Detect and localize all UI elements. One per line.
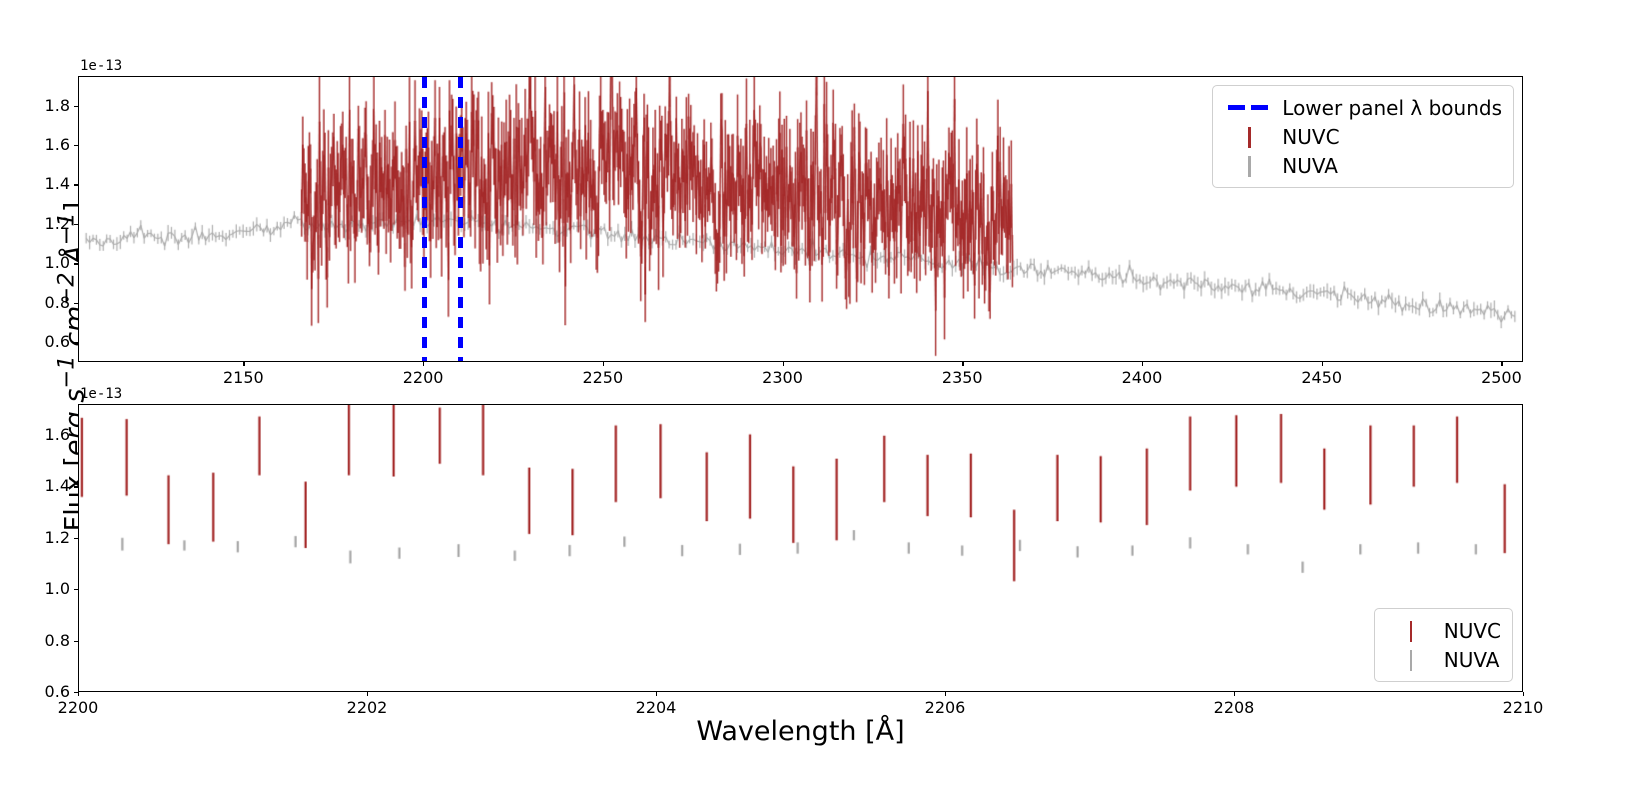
y-tick-mark <box>74 486 78 487</box>
x-tick-label: 2400 <box>1107 368 1177 387</box>
x-tick-mark <box>367 692 368 696</box>
top-panel-legend[interactable]: Lower panel λ bounds NUVC NUVA <box>1212 85 1514 188</box>
x-tick-label: 2350 <box>927 368 997 387</box>
x-tick-mark <box>962 362 963 366</box>
y-tick-mark <box>74 145 78 146</box>
y-tick-label: 1.4 <box>12 174 70 193</box>
y-tick-label: 0.8 <box>12 631 70 650</box>
legend-item-nuva-bottom[interactable]: NUVA <box>1384 645 1501 674</box>
y-tick-mark <box>74 641 78 642</box>
figure-canvas: Fig 2.7 Overlay of First and Second-orde… <box>0 0 1629 789</box>
x-tick-label: 2208 <box>1199 698 1269 717</box>
x-axis-label: Wavelength [Å] <box>78 716 1523 747</box>
y-tick-mark <box>74 106 78 107</box>
top-panel-axes: Lower panel λ bounds NUVC NUVA <box>78 76 1523 362</box>
bottom-panel-legend[interactable]: NUVC NUVA <box>1374 608 1513 682</box>
x-tick-label: 2300 <box>748 368 818 387</box>
vertical-bar-key-icon-nuvc-bottom <box>1384 620 1438 642</box>
y-tick-mark <box>74 538 78 539</box>
legend-label-nuva: NUVA <box>1282 154 1338 178</box>
legend-label-nuvc-bottom: NUVC <box>1444 619 1501 643</box>
x-tick-mark <box>1234 692 1235 696</box>
x-tick-label: 2206 <box>910 698 980 717</box>
x-tick-mark <box>945 692 946 696</box>
legend-label-nuva-bottom: NUVA <box>1444 648 1500 672</box>
x-tick-mark <box>783 362 784 366</box>
x-tick-label: 2250 <box>568 368 638 387</box>
vertical-bar-key-icon-nuva <box>1222 155 1276 177</box>
legend-item-nuvc-bottom[interactable]: NUVC <box>1384 616 1501 645</box>
upper-bound-vline <box>458 77 463 361</box>
y-tick-label: 0.8 <box>12 293 70 312</box>
x-tick-mark <box>1322 362 1323 366</box>
y-tick-mark <box>74 184 78 185</box>
y-tick-label: 1.6 <box>12 425 70 444</box>
y-tick-mark <box>74 263 78 264</box>
x-tick-label: 2150 <box>208 368 278 387</box>
legend-item-nuvc[interactable]: NUVC <box>1222 122 1502 151</box>
x-tick-mark <box>656 692 657 696</box>
y-tick-mark <box>74 224 78 225</box>
y-tick-mark <box>74 589 78 590</box>
x-tick-mark <box>78 692 79 696</box>
y-tick-mark <box>74 303 78 304</box>
top-panel-y-offset-label: 1e-13 <box>80 58 122 74</box>
x-tick-label: 2200 <box>388 368 458 387</box>
y-tick-label: 1.6 <box>12 135 70 154</box>
y-tick-label: 1.2 <box>12 214 70 233</box>
x-tick-label: 2200 <box>43 698 113 717</box>
legend-label-bounds: Lower panel λ bounds <box>1282 96 1502 120</box>
x-tick-label: 2500 <box>1466 368 1536 387</box>
legend-item-bounds[interactable]: Lower panel λ bounds <box>1222 93 1502 122</box>
legend-item-nuva[interactable]: NUVA <box>1222 151 1502 180</box>
x-tick-mark <box>423 362 424 366</box>
y-tick-label: 1.0 <box>12 253 70 272</box>
y-tick-label: 1.0 <box>12 579 70 598</box>
x-tick-label: 2450 <box>1287 368 1357 387</box>
y-tick-mark <box>74 435 78 436</box>
x-tick-mark <box>1523 692 1524 696</box>
bottom-panel-spectrum-plot <box>79 405 1522 691</box>
legend-label-nuvc: NUVC <box>1282 125 1339 149</box>
x-tick-label: 2202 <box>332 698 402 717</box>
vertical-bar-key-icon-nuva-bottom <box>1384 649 1438 671</box>
x-tick-label: 2210 <box>1488 698 1558 717</box>
lower-bound-vline <box>422 77 427 361</box>
x-tick-label: 2204 <box>621 698 691 717</box>
x-tick-mark <box>243 362 244 366</box>
y-tick-label: 1.4 <box>12 476 70 495</box>
x-tick-mark <box>1501 362 1502 366</box>
bottom-panel-y-offset-label: 1e-13 <box>80 386 122 402</box>
x-tick-mark <box>1142 362 1143 366</box>
dashed-line-key-icon <box>1222 97 1276 119</box>
y-tick-mark <box>74 342 78 343</box>
y-tick-label: 1.2 <box>12 528 70 547</box>
bottom-panel-axes: NUVC NUVA <box>78 404 1523 692</box>
x-tick-mark <box>603 362 604 366</box>
y-tick-label: 1.8 <box>12 96 70 115</box>
vertical-bar-key-icon-nuvc <box>1222 126 1276 148</box>
y-tick-label: 0.6 <box>12 332 70 351</box>
